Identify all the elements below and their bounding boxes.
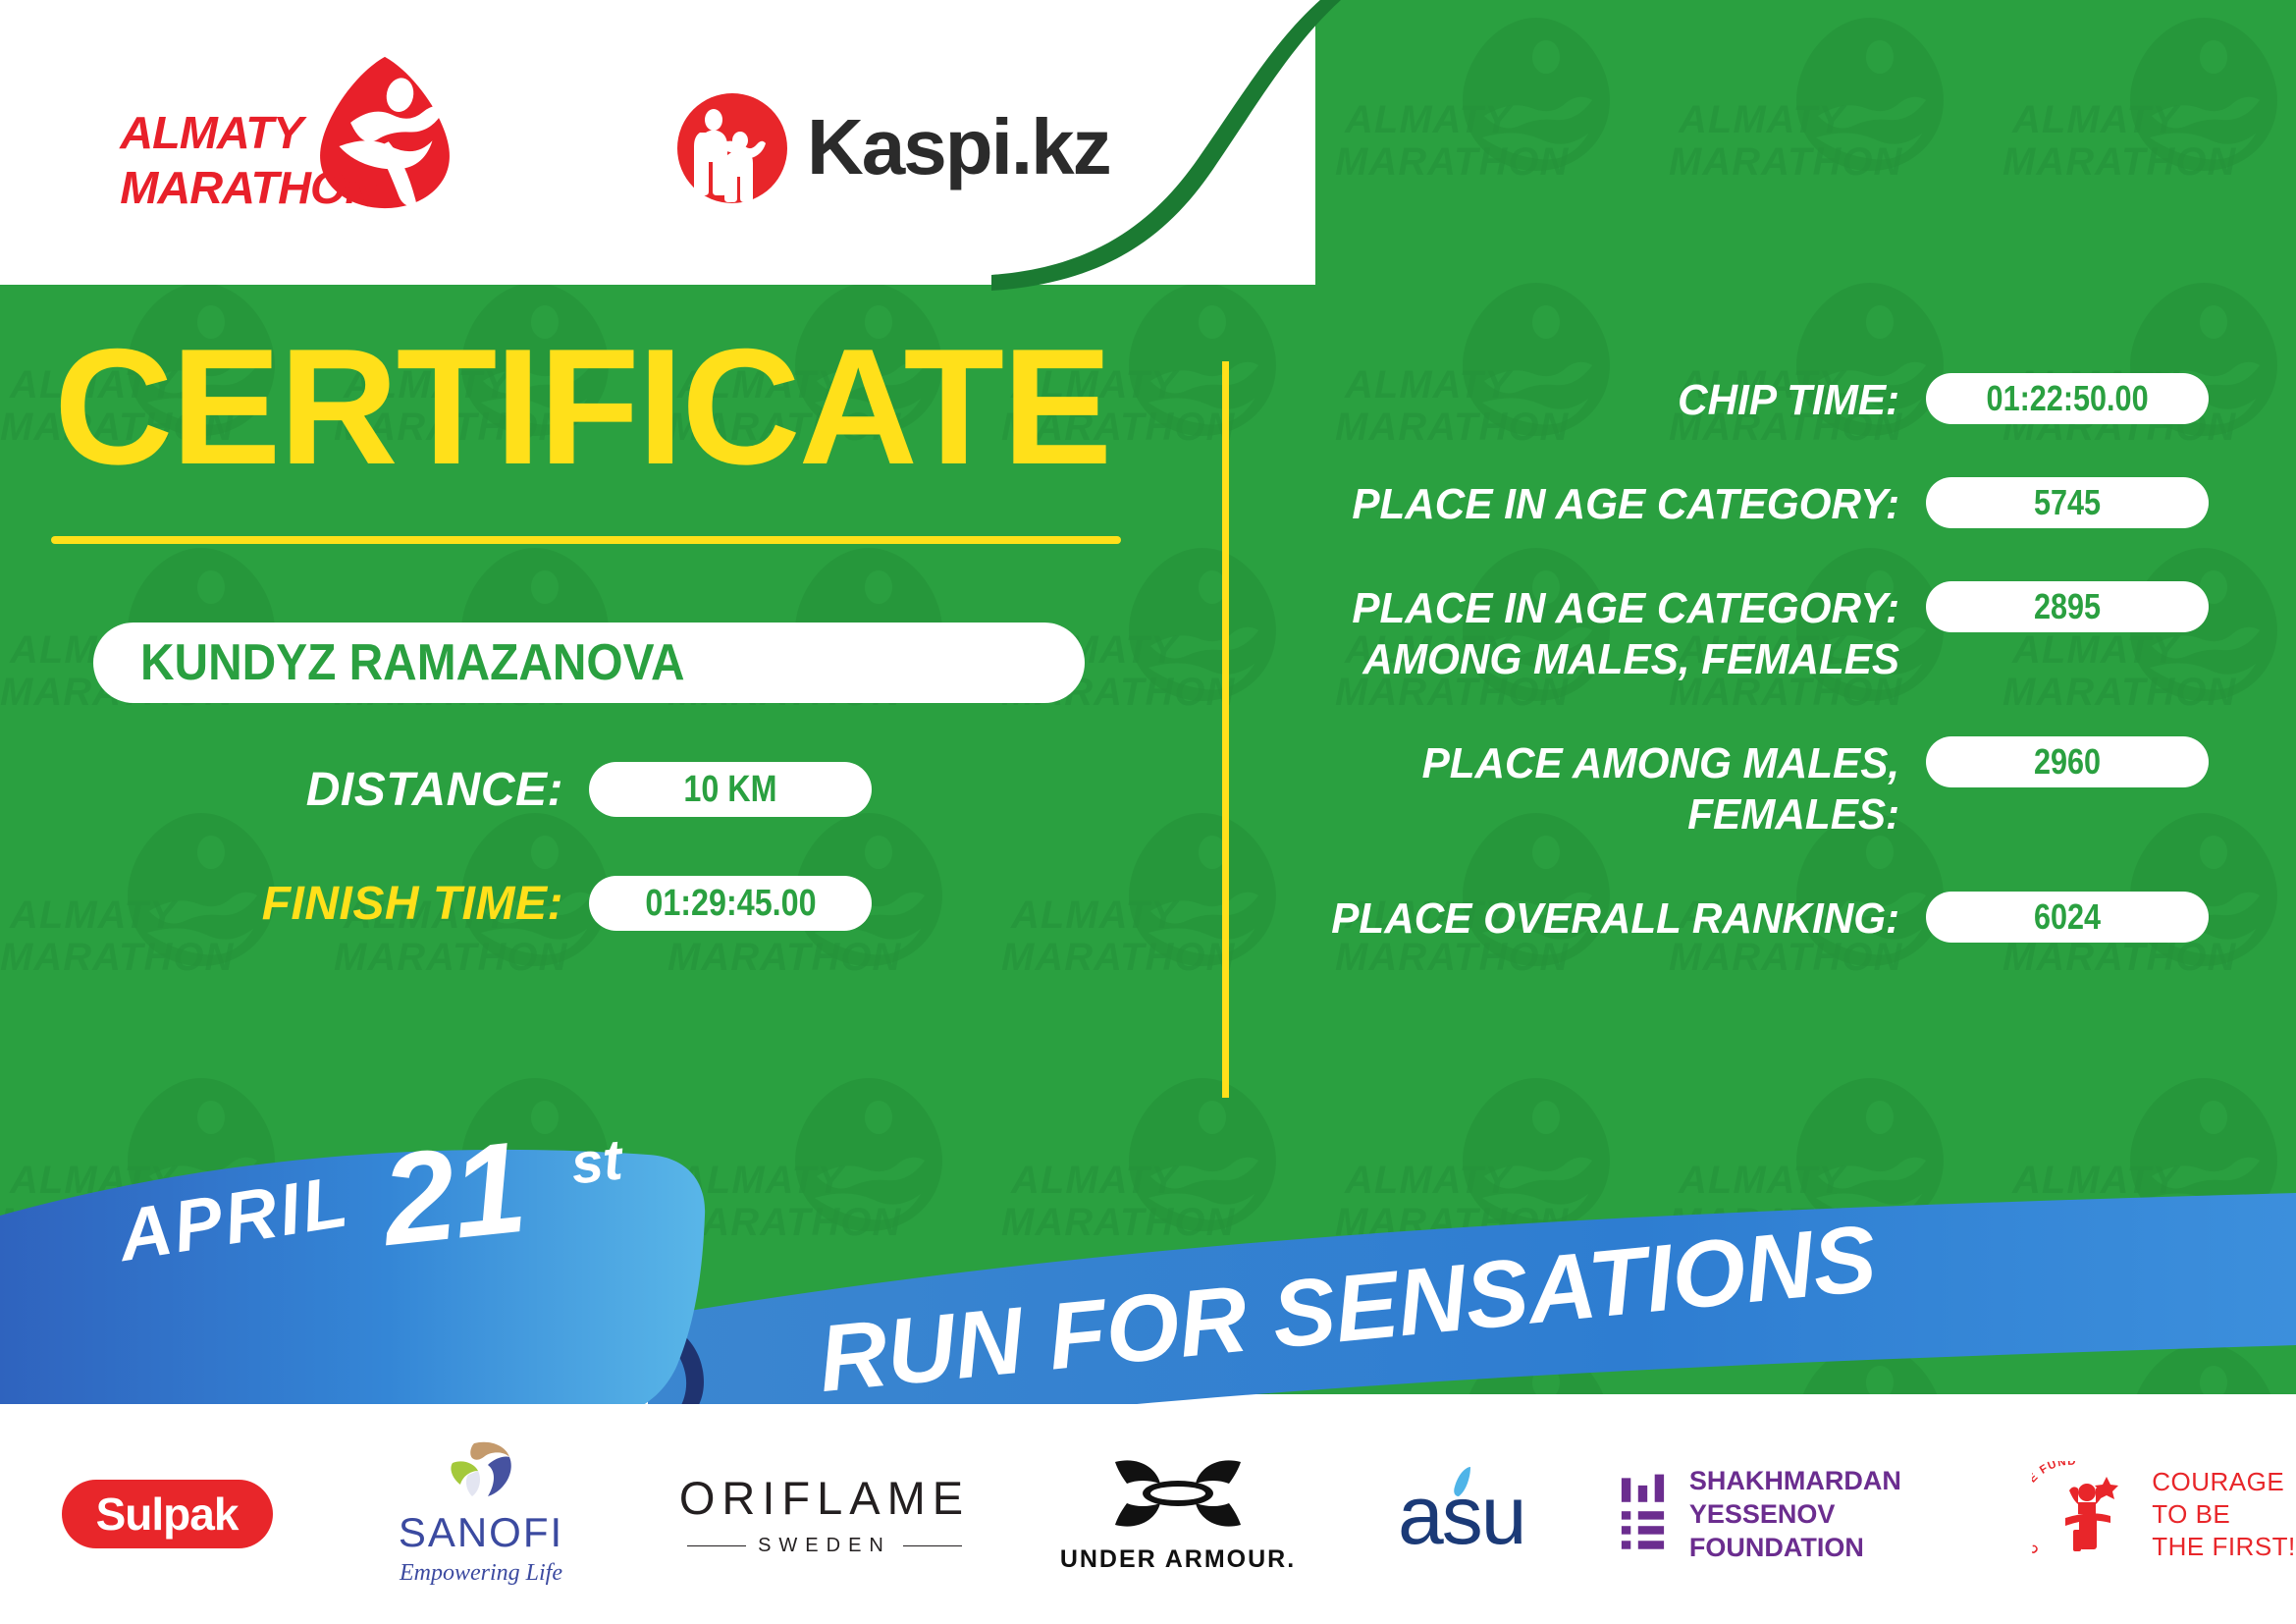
place-overall-value: 6024 [2034,896,2101,938]
almaty-marathon-line2: MARATHON [120,160,390,215]
courage-runner-icon: CORPORATE FUND [2032,1461,2138,1567]
courage-line2: TO BE [2152,1498,2296,1531]
kaspi-logo: Kaspi.kz [677,93,1090,201]
yessenov-wordmark: SHAKHMARDAN YESSENOV FOUNDATION [1689,1464,2032,1564]
yessenov-bars-icon [1620,1472,1668,1556]
place-among-gender-row: PLACE AMONG MALES, FEMALES: 2960 [1276,736,2209,840]
sponsor-sulpak: Sulpak [0,1440,334,1588]
sanofi-wordmark: SANOFI [399,1509,563,1556]
distance-row: DISTANCE: 10 KM [0,762,1168,817]
chip-time-row: CHIP TIME: 01:22:50.00 [1276,373,2209,426]
place-age-category-value: 5745 [2034,482,2101,523]
courage-fund-arc-text: CORPORATE FUND [2032,1461,2077,1555]
kaspi-wordmark: Kaspi.kz [807,99,1110,195]
sponsor-sanofi: SANOFI Empowering Life [334,1440,628,1588]
participant-name-field: KUNDYZ RAMAZANOVA [93,623,1085,703]
distance-value: 10 KM [683,769,776,811]
place-age-category-gender-value-pill: 2895 [1926,581,2209,632]
sponsor-under-armour: UNDER ARMOUR. [1021,1440,1335,1588]
distance-value-pill: 10 KM [589,762,872,817]
courage-fund-wordmark: COURAGE TO BE THE FIRST! [2152,1466,2296,1563]
under-armour-logo: UNDER ARMOUR. [1060,1454,1296,1574]
chip-time-value-pill: 01:22:50.00 [1926,373,2209,424]
almaty-marathon-logo: ALMATY MARATHON [123,54,447,216]
oriflame-logo: ORIFLAME SWEDEN [679,1471,970,1557]
finish-time-label: FINISH TIME: [0,877,589,931]
oriflame-sub-row: SWEDEN [679,1535,970,1557]
sulpak-logo: Sulpak [62,1480,273,1548]
certificate-header: ALMATY MARATHON Kaspi.kz [0,0,1315,285]
sulpak-wordmark: Sulpak [96,1488,239,1541]
distance-label: DISTANCE: [0,763,589,817]
courage-fund-logo: CORPORATE FUND COURAGE TO BE THE FIRST! [2032,1461,2296,1567]
sponsor-courage-to-be-first: CORPORATE FUND COURAGE TO BE THE FIRST! [2032,1440,2296,1588]
ribbon-day: 21 [375,1112,530,1274]
right-column: CHIP TIME: 01:22:50.00 PLACE IN AGE CATE… [1276,373,2209,996]
asu-logo: asu [1394,1465,1561,1563]
finish-time-value-pill: 01:29:45.00 [589,876,872,931]
place-among-gender-label: PLACE AMONG MALES, FEMALES: [1302,736,1926,840]
svg-text:CORPORATE FUND: CORPORATE FUND [2032,1461,2077,1555]
sponsor-asu: asu [1335,1440,1620,1588]
place-overall-label: PLACE OVERALL RANKING: [1302,892,1926,945]
oriflame-wordmark: ORIFLAME [679,1471,970,1525]
under-armour-icon [1099,1454,1256,1535]
place-age-category-row: PLACE IN AGE CATEGORY: 5745 [1276,477,2209,530]
participant-name-value: KUNDYZ RAMAZANOVA [140,633,685,692]
almaty-marathon-wordmark: ALMATY MARATHON [123,105,388,215]
sponsor-yessenov-foundation: SHAKHMARDAN YESSENOV FOUNDATION [1620,1440,2032,1588]
place-among-gender-value: 2960 [2034,741,2101,783]
ribbon-ordinal: st [568,1126,625,1197]
finish-time-row: FINISH TIME: 01:29:45.00 [0,876,1168,931]
place-overall-row: PLACE OVERALL RANKING: 6024 [1276,892,2209,945]
under-armour-wordmark: UNDER ARMOUR. [1060,1545,1296,1574]
sanofi-tagline: Empowering Life [399,1560,563,1587]
place-age-category-gender-value: 2895 [2034,586,2101,627]
place-age-category-gender-label: PLACE IN AGE CATEGORY: AMONG MALES, FEMA… [1302,581,1926,685]
oriflame-rule-left [687,1545,746,1547]
left-column: CERTIFICATE KUNDYZ RAMAZANOVA DISTANCE: … [0,324,1168,931]
yessenov-line2: FOUNDATION [1689,1531,2032,1564]
chip-time-value: 01:22:50.00 [1986,378,2148,419]
place-age-category-gender-row: PLACE IN AGE CATEGORY: AMONG MALES, FEMA… [1276,581,2209,685]
almaty-marathon-line1: ALMATY [120,105,390,160]
place-among-gender-value-pill: 2960 [1926,736,2209,787]
sponsor-bar: Sulpak SANOFI Empowering Life ORIFLAME [0,1404,2296,1624]
yessenov-line1: SHAKHMARDAN YESSENOV [1689,1464,2032,1531]
courage-line1: COURAGE [2152,1466,2296,1498]
vertical-divider [1222,361,1229,1098]
finish-time-value: 01:29:45.00 [645,883,816,925]
chip-time-label: CHIP TIME: [1302,373,1926,426]
courage-line3: THE FIRST! [2152,1531,2296,1563]
place-overall-value-pill: 6024 [1926,892,2209,943]
kaspi-people-circle-icon [677,93,787,203]
page-title: CERTIFICATE [54,324,1168,489]
yessenov-logo: SHAKHMARDAN YESSENOV FOUNDATION [1620,1464,2032,1564]
place-age-category-label: PLACE IN AGE CATEGORY: [1302,477,1926,530]
title-underline [51,536,1121,544]
sponsor-oriflame: ORIFLAME SWEDEN [628,1440,1021,1588]
place-age-category-value-pill: 5745 [1926,477,2209,528]
sanofi-mark-icon [445,1441,517,1498]
sanofi-logo: SANOFI Empowering Life [399,1441,563,1587]
oriflame-rule-right [903,1545,962,1547]
oriflame-sweden-label: SWEDEN [758,1535,891,1557]
certificate-page: ALMATY MARATHON ALMATY [0,0,2296,1624]
